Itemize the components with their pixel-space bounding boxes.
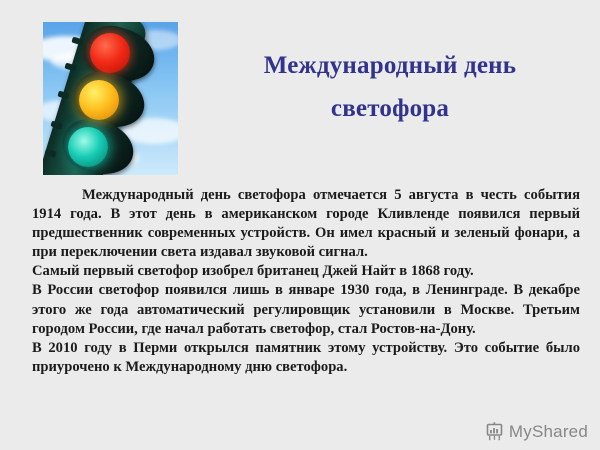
presentation-slide: Международный день светофора Международн… xyxy=(0,0,600,450)
myshared-watermark: MyShared xyxy=(485,422,588,442)
slide-title-line-2: светофора xyxy=(190,87,590,130)
slide-title: Международный день светофора xyxy=(190,44,590,130)
red-lamp xyxy=(90,33,130,73)
body-paragraph-3: В России светофор появился лишь в январе… xyxy=(32,281,580,338)
presentation-board-icon xyxy=(485,422,504,442)
traffic-light-photo xyxy=(43,22,178,175)
slide-title-line-1: Международный день xyxy=(264,52,516,79)
slide-body-text: Международный день светофора отмечается … xyxy=(32,186,580,377)
green-lamp xyxy=(68,127,108,167)
body-paragraph-2: Самый первый светофор изобрел британец Д… xyxy=(32,262,580,281)
myshared-label: MyShared xyxy=(509,422,588,442)
body-paragraph-1: Международный день светофора отмечается … xyxy=(32,186,580,262)
yellow-lamp xyxy=(79,80,119,120)
body-paragraph-4: В 2010 году в Перми открылся памятник эт… xyxy=(32,339,580,377)
